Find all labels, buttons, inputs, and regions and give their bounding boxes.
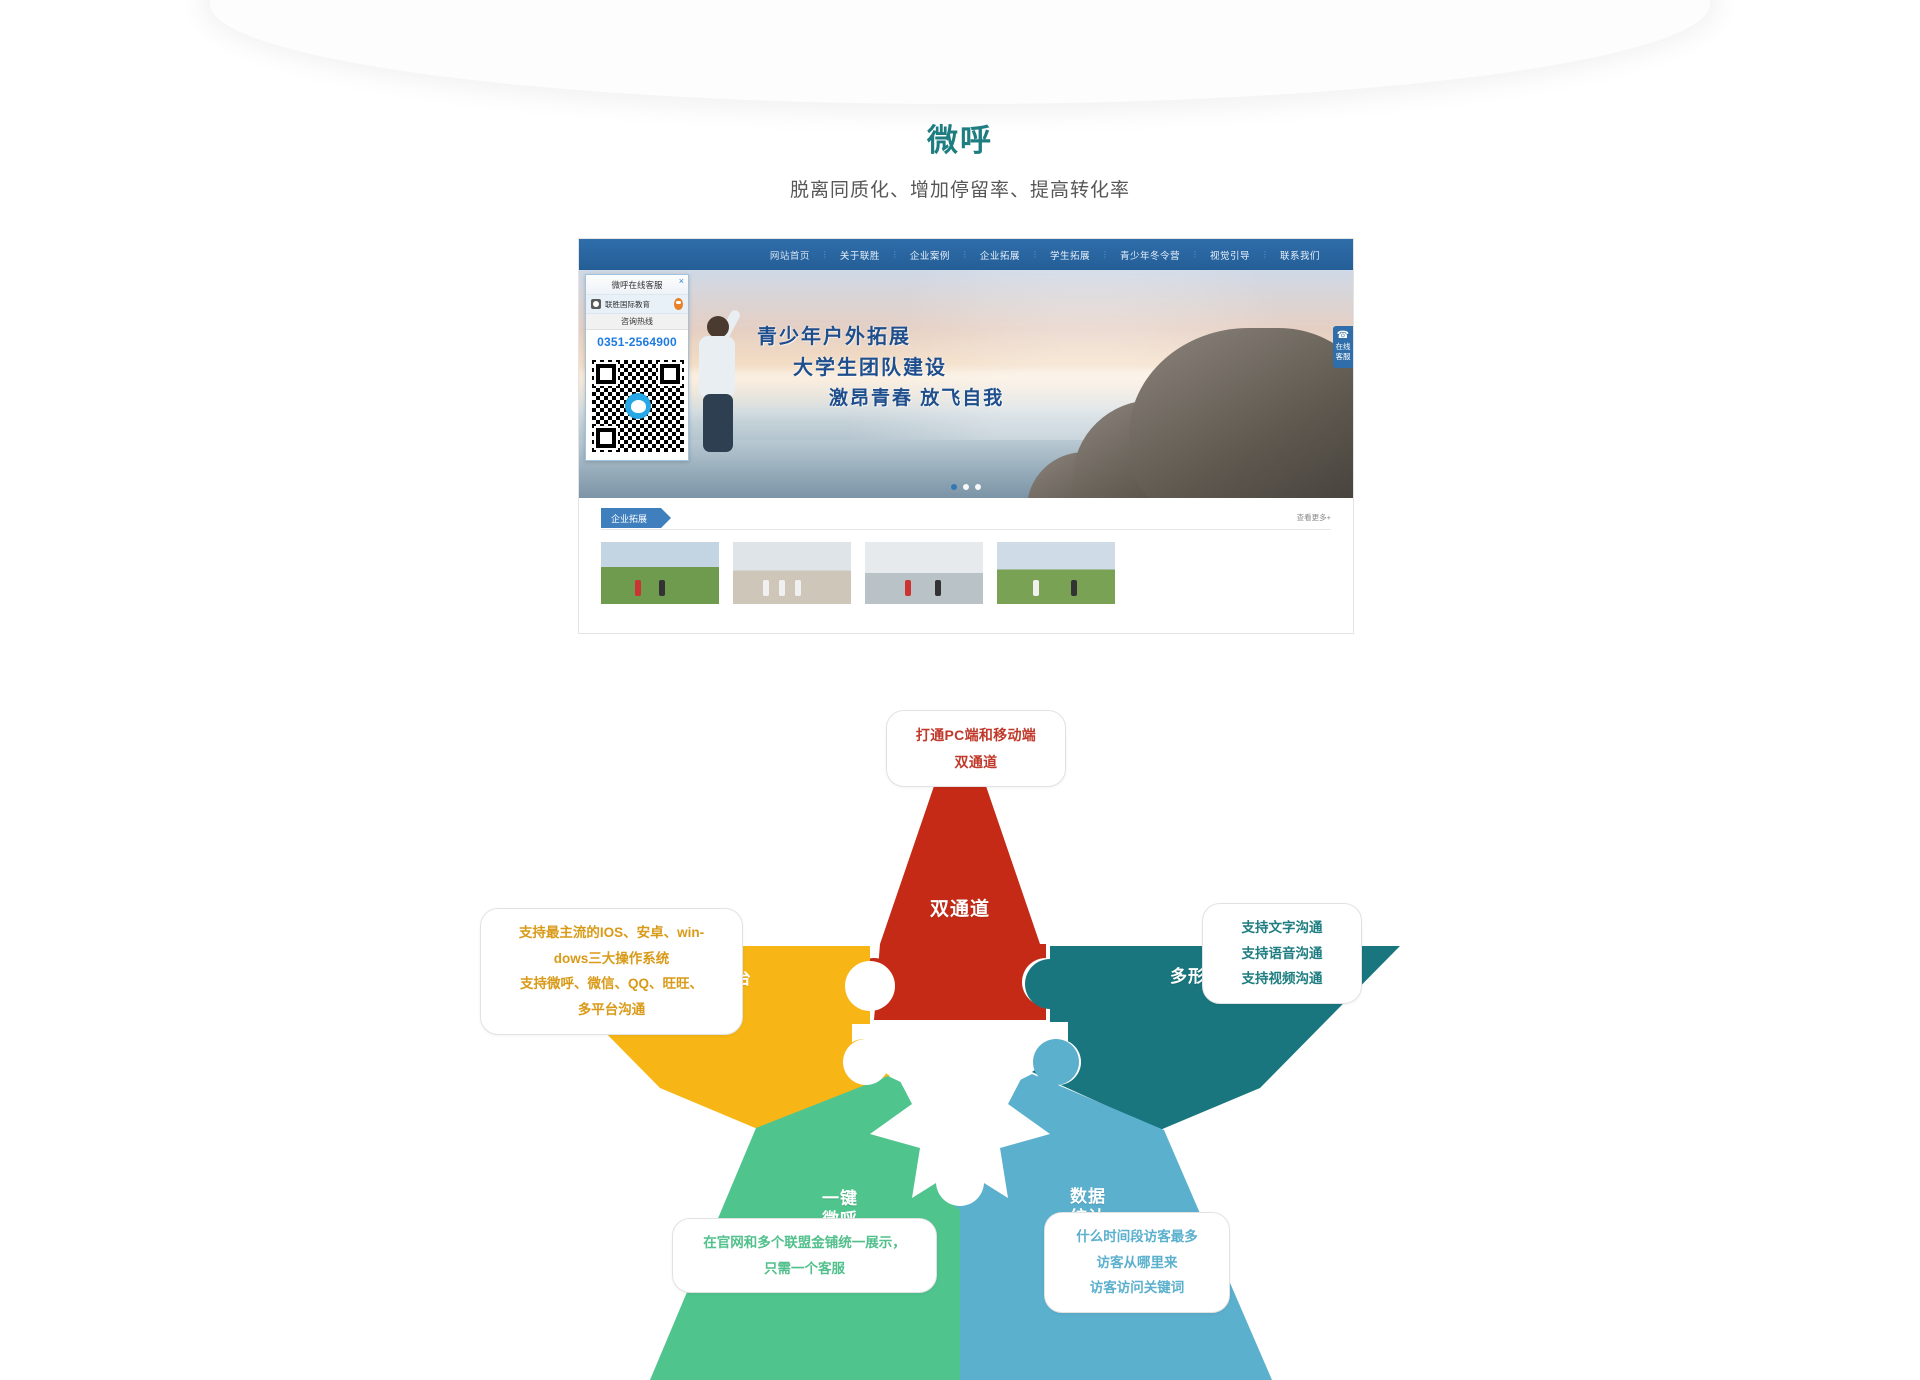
page-title: 微呼 — [0, 122, 1920, 159]
nav-item-winter-camp[interactable]: 青少年冬令营 — [1109, 248, 1191, 262]
chat-phone-number: 0351-2564900 — [586, 330, 688, 354]
nav-item-contact[interactable]: 联系我们 — [1269, 248, 1331, 262]
nav-separator-icon: ⋮ — [821, 250, 829, 259]
banner-line-2: 大学生团队建设 — [793, 353, 1004, 384]
person-legs — [703, 394, 733, 452]
banner-line-1: 青少年户外拓展 — [757, 322, 1004, 353]
nav-item-about[interactable]: 关于联胜 — [829, 248, 891, 262]
thumb-figure — [795, 580, 801, 596]
list-item[interactable] — [733, 542, 851, 604]
qq-icon[interactable] — [674, 298, 683, 310]
nav-item-visual-guide[interactable]: 视觉引导 — [1199, 248, 1261, 262]
chat-qr-area — [586, 354, 688, 460]
callout-left: 支持最主流的IOS、安卓、win- dows三大操作系统 支持微呼、微信、QQ、… — [480, 908, 743, 1035]
rock-shape-1 — [1129, 328, 1353, 498]
nav-separator-icon: ⋮ — [1191, 250, 1199, 259]
thumb-figure — [763, 580, 769, 596]
chat-widget-header: 微呼在线客服 × — [586, 275, 688, 295]
section-header: 企业拓展 查看更多+ — [601, 508, 1331, 530]
side-service-tab-label: 在线客服 — [1335, 342, 1351, 362]
chat-widget-title: 微呼在线客服 — [611, 279, 662, 291]
list-item[interactable] — [997, 542, 1115, 604]
carousel-dot-1[interactable] — [951, 484, 957, 490]
callout-bottom-right: 什么时间段访客最多 访客从哪里来 访客访问关键词 — [1044, 1212, 1230, 1313]
nav-item-home[interactable]: 网站首页 — [759, 248, 821, 262]
nav-item-enterprise-training[interactable]: 企业拓展 — [969, 248, 1031, 262]
carousel-dot-2[interactable] — [963, 484, 969, 490]
qr-center-logo-icon — [625, 393, 651, 419]
callout-top: 打通PC端和移动端 双通道 — [886, 710, 1066, 787]
thumb-figure — [905, 580, 911, 596]
section-tab[interactable]: 企业拓展 — [601, 508, 661, 528]
nav-items: 网站首页 ⋮ 关于联胜 ⋮ 企业案例 ⋮ 企业拓展 ⋮ 学生拓展 ⋮ 青少年冬令… — [759, 248, 1331, 262]
side-service-tab[interactable]: ☎ 在线客服 — [1333, 326, 1353, 368]
online-chat-widget[interactable]: 微呼在线客服 × 联胜国际教育 咨询热线 0351-2564900 — [585, 274, 689, 461]
banner-headline: 青少年户外拓展 大学生团队建设 激昂青春 放飞自我 — [757, 322, 1004, 413]
hero-banner: 青少年户外拓展 大学生团队建设 激昂青春 放飞自我 微呼在线客服 × 联胜国际教… — [579, 270, 1353, 498]
star-piece-top-label: 双通道 — [898, 898, 1022, 922]
list-item[interactable] — [865, 542, 983, 604]
thumb-figure — [659, 580, 665, 596]
page-subtitle: 脱离同质化、增加停留率、提高转化率 — [0, 175, 1920, 202]
nav-separator-icon: ⋮ — [1031, 250, 1039, 259]
thumb-figure — [1071, 580, 1077, 596]
qr-code-icon — [592, 360, 684, 452]
nav-separator-icon: ⋮ — [891, 250, 899, 259]
callout-right: 支持文字沟通 支持语音沟通 支持视频沟通 — [1202, 903, 1362, 1004]
chat-hotline-label: 咨询热线 — [586, 314, 688, 330]
star-pieces-svg — [460, 690, 1460, 1380]
qr-finder-top-right — [658, 362, 682, 386]
avatar — [591, 299, 601, 309]
nav-item-cases[interactable]: 企业案例 — [899, 248, 961, 262]
star-graphic: 双通道 多平台 多形式 一键 微呼 数据 统计 — [460, 690, 1460, 1380]
person-head — [707, 316, 729, 338]
site-navigation-bar: 网站首页 ⋮ 关于联胜 ⋮ 企业案例 ⋮ 企业拓展 ⋮ 学生拓展 ⋮ 青少年冬令… — [579, 239, 1353, 270]
view-more-link[interactable]: 查看更多+ — [1297, 512, 1331, 523]
callout-bottom-left: 在官网和多个联盟金铺统一展示， 只需一个客服 — [672, 1218, 937, 1293]
person-figure — [687, 304, 753, 464]
nav-item-student-training[interactable]: 学生拓展 — [1039, 248, 1101, 262]
thumb-figure — [935, 580, 941, 596]
page-root: 微呼 脱离同质化、增加停留率、提高转化率 网站首页 ⋮ 关于联胜 ⋮ 企业案例 … — [0, 0, 1920, 1380]
carousel-dots[interactable] — [951, 484, 981, 490]
phone-icon: ☎ — [1335, 330, 1351, 342]
nav-separator-icon: ⋮ — [1261, 250, 1269, 259]
person-body — [699, 336, 735, 398]
qr-finder-bottom-left — [594, 426, 618, 450]
thumbnail-list — [601, 542, 1331, 604]
carousel-dot-3[interactable] — [975, 484, 981, 490]
star-puzzle-diagram: 双通道 多平台 多形式 一键 微呼 数据 统计 打通PC端和移动端 双通道 支持… — [0, 690, 1920, 1380]
thumb-figure — [1033, 580, 1039, 596]
website-screenshot-preview: 网站首页 ⋮ 关于联胜 ⋮ 企业案例 ⋮ 企业拓展 ⋮ 学生拓展 ⋮ 青少年冬令… — [578, 238, 1354, 634]
thumb-figure — [779, 580, 785, 596]
qr-finder-top-left — [594, 362, 618, 386]
close-icon[interactable]: × — [679, 276, 684, 286]
page-heading: 微呼 脱离同质化、增加停留率、提高转化率 — [0, 0, 1920, 202]
site-content-section: 企业拓展 查看更多+ — [579, 498, 1353, 604]
chat-contact-name: 联胜国际教育 — [605, 299, 670, 310]
list-item[interactable] — [601, 542, 719, 604]
nav-separator-icon: ⋮ — [1101, 250, 1109, 259]
banner-line-3: 激昂青春 放飞自我 — [829, 384, 1004, 413]
thumb-figure — [635, 580, 641, 596]
chat-contact-row[interactable]: 联胜国际教育 — [586, 295, 688, 314]
nav-separator-icon: ⋮ — [961, 250, 969, 259]
